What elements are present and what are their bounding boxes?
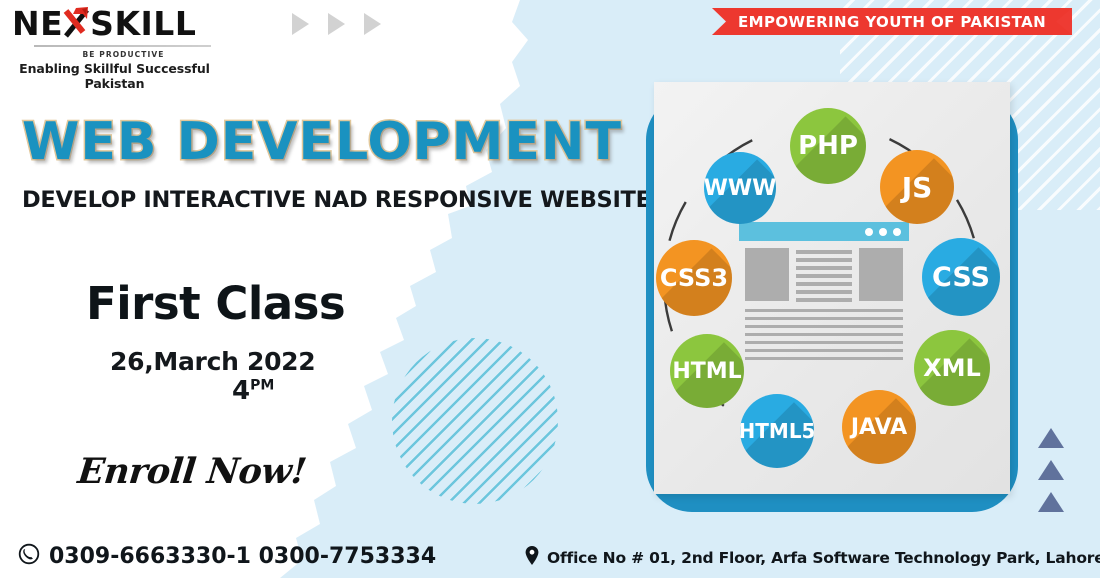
browser-dot-icon bbox=[865, 228, 873, 236]
tech-node-css: CSS bbox=[922, 238, 1000, 316]
browser-dot-icon bbox=[893, 228, 901, 236]
page-subtitle: DEVELOP INTERACTIVE NAD RESPONSIVE WEBSI… bbox=[22, 187, 651, 213]
phone-circle-icon bbox=[18, 543, 40, 570]
play-triangle-icon bbox=[292, 13, 309, 35]
brand-wordmark: NE SKILL bbox=[12, 6, 217, 42]
up-triangles-decor bbox=[1038, 428, 1064, 512]
brand-name-part2: SKILL bbox=[90, 4, 196, 43]
enroll-now-cta[interactable]: Enroll Now! bbox=[76, 451, 308, 492]
tech-node-html5: HTML5 bbox=[740, 394, 814, 468]
tech-node-php: PHP bbox=[790, 108, 866, 184]
tech-node-label: PHP bbox=[798, 131, 858, 161]
up-triangle-icon bbox=[1038, 492, 1064, 512]
browser-image-block bbox=[859, 248, 903, 301]
tech-node-label: CSS3 bbox=[660, 264, 728, 292]
play-triangle-icon bbox=[328, 13, 345, 35]
contact-phone[interactable]: 0309-6663330-1 0300-7753334 bbox=[18, 543, 436, 570]
event-time: 4PM bbox=[232, 376, 274, 406]
play-triangles-decor bbox=[292, 13, 381, 35]
tech-node-js: JS bbox=[880, 150, 954, 224]
tech-node-www: WWW bbox=[704, 152, 776, 224]
browser-image-block bbox=[745, 248, 789, 301]
tech-node-xml: XML bbox=[914, 330, 990, 406]
striped-circle-decor bbox=[392, 338, 558, 504]
up-triangle-icon bbox=[1038, 428, 1064, 448]
phone-numbers: 0309-6663330-1 0300-7753334 bbox=[49, 544, 436, 569]
tech-node-label: HTML bbox=[672, 359, 741, 384]
browser-content bbox=[739, 241, 909, 360]
event-time-meridiem: PM bbox=[250, 377, 274, 393]
location-pin-icon bbox=[525, 546, 539, 570]
ribbon-label: EMPOWERING YOUTH OF PAKISTAN bbox=[738, 13, 1046, 31]
browser-text-lines bbox=[796, 248, 852, 302]
page-title: WEB DEVELOPMENT bbox=[22, 112, 622, 172]
up-triangle-icon bbox=[1038, 460, 1064, 480]
tech-node-label: CSS bbox=[932, 262, 990, 293]
event-date: 26,March 2022 bbox=[110, 347, 315, 376]
tech-node-label: HTML5 bbox=[740, 419, 814, 443]
browser-top-row bbox=[745, 248, 903, 302]
technology-illustration: PHPWWWJSCSS3CSSHTMLXMLHTML5JAVA bbox=[622, 72, 1022, 512]
brand-tagline-small: BE PRODUCTIVE bbox=[30, 50, 217, 59]
browser-dot-icon bbox=[879, 228, 887, 236]
empowering-ribbon: EMPOWERING YOUTH OF PAKISTAN bbox=[712, 8, 1072, 35]
brand-name-part1: NE bbox=[12, 4, 63, 43]
red-arrow-x-icon bbox=[63, 6, 90, 39]
tech-node-label: JAVA bbox=[851, 415, 907, 440]
tech-node-label: JS bbox=[902, 171, 933, 204]
event-label: First Class bbox=[86, 277, 345, 330]
promo-banner: NE SKILL BE PRODUCTIVE Enabling Skillful… bbox=[0, 0, 1100, 578]
address-text: Office No # 01, 2nd Floor, Arfa Software… bbox=[547, 549, 1100, 567]
tech-node-label: XML bbox=[923, 354, 981, 382]
play-triangle-icon bbox=[364, 13, 381, 35]
browser-paragraph-lines bbox=[745, 309, 903, 361]
brand-tagline: Enabling Skillful Successful Pakistan bbox=[12, 61, 217, 91]
tech-node-label: WWW bbox=[704, 176, 776, 201]
tech-node-java: JAVA bbox=[842, 390, 916, 464]
brand-logo[interactable]: NE SKILL BE PRODUCTIVE Enabling Skillful… bbox=[12, 6, 217, 91]
browser-mockup bbox=[739, 222, 909, 372]
event-time-number: 4 bbox=[232, 376, 250, 406]
browser-titlebar bbox=[739, 222, 909, 241]
tech-node-html: HTML bbox=[670, 334, 744, 408]
logo-divider bbox=[34, 45, 211, 47]
contact-address[interactable]: Office No # 01, 2nd Floor, Arfa Software… bbox=[525, 546, 1100, 570]
tech-node-css3: CSS3 bbox=[656, 240, 732, 316]
